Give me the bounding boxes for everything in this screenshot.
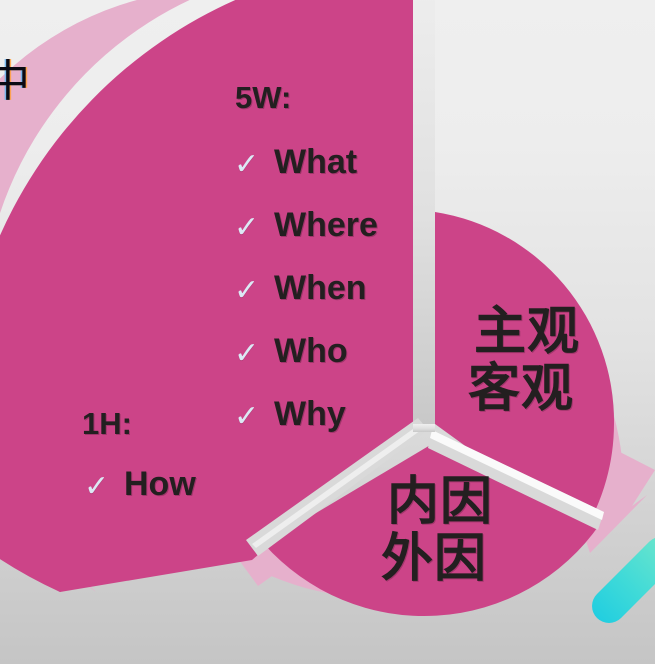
segment-gap-vertical xyxy=(413,0,435,426)
slide-canvas: 中 5W: ✓ What ✓ Where ✓ When ✓ Who ✓ Why … xyxy=(0,0,655,664)
hub-notch xyxy=(413,424,435,432)
cycle-diagram xyxy=(0,0,655,664)
